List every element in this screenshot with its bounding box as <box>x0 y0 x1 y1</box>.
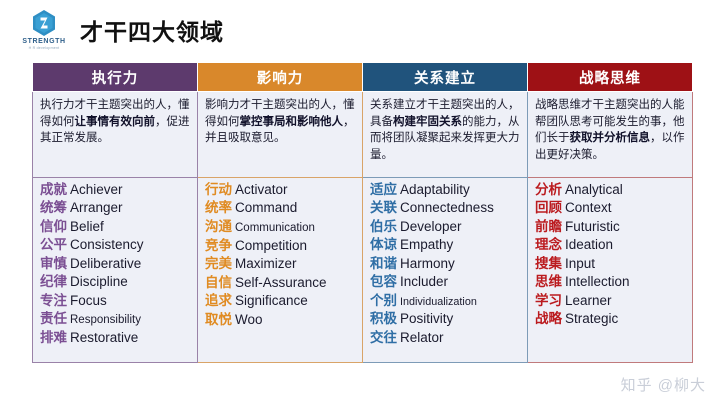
theme-name-cn: 公平 <box>40 237 67 252</box>
theme-name-en: Woo <box>235 312 263 327</box>
theme-name-en: Includer <box>400 274 448 289</box>
theme-name-en: Analytical <box>565 182 623 197</box>
theme-item: 前瞻Futuristic <box>535 218 686 236</box>
theme-name-cn: 战略 <box>535 311 562 326</box>
theme-name-cn: 专注 <box>40 293 67 308</box>
description-run-1: 构建牢固关系 <box>393 116 462 128</box>
talent-domains-table: 执行力 影响力 关系建立 战略思维 执行力才干主题突出的人，懂得如何让事情有效向… <box>32 62 693 363</box>
theme-name-cn: 行动 <box>205 182 232 197</box>
brand-logo: STRENGTH H R development <box>18 9 70 50</box>
theme-item: 伯乐Developer <box>370 218 521 236</box>
theme-item: 回顾Context <box>535 199 686 217</box>
theme-name-en: Discipline <box>70 274 128 289</box>
theme-item: 和谐Harmony <box>370 255 521 273</box>
theme-item: 个别Individualization <box>370 292 521 310</box>
theme-item: 追求Significance <box>205 292 356 310</box>
logo-tagline: H R development <box>29 47 60 51</box>
theme-name-cn: 前瞻 <box>535 219 562 234</box>
theme-name-cn: 沟通 <box>205 219 232 234</box>
theme-name-en: Connectedness <box>400 200 494 215</box>
theme-name-cn: 包容 <box>370 274 397 289</box>
theme-name-en: Responsibility <box>70 314 141 326</box>
logo-wordmark: STRENGTH <box>22 38 65 45</box>
themes-strategic: 分析Analytical回顾Context前瞻Futuristic理念Ideat… <box>528 178 693 363</box>
theme-name-cn: 交往 <box>370 330 397 345</box>
theme-name-cn: 自信 <box>205 275 232 290</box>
column-header-execution: 执行力 <box>33 63 198 92</box>
themes-execution: 成就Achiever统筹Arranger信仰Belief公平Consistenc… <box>33 178 198 363</box>
theme-name-cn: 纪律 <box>40 274 67 289</box>
theme-name-cn: 适应 <box>370 182 397 197</box>
theme-name-cn: 排难 <box>40 330 67 345</box>
description-execution: 执行力才干主题突出的人，懂得如何让事情有效向前，促进其正常发展。 <box>33 92 198 178</box>
themes-influencing: 行动Activator统率Command沟通Communication竞争Com… <box>198 178 363 363</box>
theme-name-cn: 统率 <box>205 200 232 215</box>
theme-name-en: Command <box>235 200 297 215</box>
theme-item: 分析Analytical <box>535 181 686 199</box>
theme-item: 成就Achiever <box>40 181 191 199</box>
theme-name-en: Strategic <box>565 311 618 326</box>
description-run-1: 获取并分析信息 <box>570 132 651 144</box>
theme-name-en: Significance <box>235 293 308 308</box>
slide-header: STRENGTH H R development 才干四大领域 <box>0 0 720 52</box>
theme-name-cn: 取悦 <box>205 312 232 327</box>
theme-name-en: Self-Assurance <box>235 275 327 290</box>
theme-item: 信仰Belief <box>40 218 191 236</box>
column-header-strategic: 战略思维 <box>528 63 693 92</box>
column-header-influencing: 影响力 <box>198 63 363 92</box>
theme-item: 思维Intellection <box>535 273 686 291</box>
table-themes-row: 成就Achiever统筹Arranger信仰Belief公平Consistenc… <box>33 178 693 363</box>
watermark: 知乎 @柳大 <box>621 374 706 395</box>
theme-item: 统率Command <box>205 199 356 217</box>
theme-name-cn: 学习 <box>535 293 562 308</box>
theme-name-cn: 搜集 <box>535 256 562 271</box>
theme-item: 统筹Arranger <box>40 199 191 217</box>
theme-name-cn: 伯乐 <box>370 219 397 234</box>
theme-name-cn: 和谐 <box>370 256 397 271</box>
theme-name-en: Input <box>565 256 595 271</box>
theme-name-cn: 竞争 <box>205 238 232 253</box>
theme-name-en: Competition <box>235 238 307 253</box>
themes-relationship: 适应Adaptability关联Connectedness伯乐Developer… <box>363 178 528 363</box>
theme-name-en: Belief <box>70 219 104 234</box>
description-influencing: 影响力才干主题突出的人，懂得如何掌控事局和影响他人，并且吸取意见。 <box>198 92 363 178</box>
theme-name-en: Deliberative <box>70 256 141 271</box>
theme-name-cn: 信仰 <box>40 219 67 234</box>
theme-name-en: Intellection <box>565 274 630 289</box>
theme-name-en: Developer <box>400 219 462 234</box>
theme-name-en: Communication <box>235 222 315 234</box>
column-header-relationship: 关系建立 <box>363 63 528 92</box>
theme-item: 竞争Competition <box>205 237 356 255</box>
theme-item: 包容Includer <box>370 273 521 291</box>
theme-item: 完美Maximizer <box>205 255 356 273</box>
theme-name-cn: 关联 <box>370 200 397 215</box>
description-run-1: 掌控事局和影响他人 <box>240 116 344 128</box>
description-run-1: 让事情有效向前 <box>75 116 156 128</box>
theme-name-cn: 回顾 <box>535 200 562 215</box>
theme-name-cn: 理念 <box>535 237 562 252</box>
theme-name-en: Consistency <box>70 237 144 252</box>
theme-item: 取悦Woo <box>205 311 356 329</box>
theme-item: 审慎Deliberative <box>40 255 191 273</box>
theme-name-cn: 个别 <box>370 293 397 308</box>
theme-name-cn: 积极 <box>370 311 397 326</box>
theme-name-en: Maximizer <box>235 256 297 271</box>
hexagon-logo-icon <box>31 9 57 37</box>
theme-name-en: Activator <box>235 182 288 197</box>
theme-item: 体谅Empathy <box>370 236 521 254</box>
theme-item: 交往Relator <box>370 329 521 347</box>
theme-item: 战略Strategic <box>535 310 686 328</box>
theme-name-en: Positivity <box>400 311 453 326</box>
theme-name-en: Achiever <box>70 182 123 197</box>
theme-item: 纪律Discipline <box>40 273 191 291</box>
theme-item: 关联Connectedness <box>370 199 521 217</box>
theme-name-en: Focus <box>70 293 107 308</box>
theme-item: 责任Responsibility <box>40 310 191 329</box>
theme-name-en: Individualization <box>400 296 477 308</box>
theme-name-en: Context <box>565 200 612 215</box>
theme-item: 适应Adaptability <box>370 181 521 199</box>
theme-item: 自信Self-Assurance <box>205 274 356 292</box>
theme-name-en: Relator <box>400 330 444 345</box>
theme-item: 沟通Communication <box>205 218 356 237</box>
theme-name-en: Restorative <box>70 330 138 345</box>
theme-name-cn: 思维 <box>535 274 562 289</box>
theme-name-cn: 审慎 <box>40 256 67 271</box>
theme-name-cn: 完美 <box>205 256 232 271</box>
theme-item: 搜集Input <box>535 255 686 273</box>
theme-item: 排难Restorative <box>40 329 191 347</box>
page-title: 才干四大领域 <box>80 21 224 44</box>
theme-name-cn: 分析 <box>535 182 562 197</box>
theme-name-en: Harmony <box>400 256 455 271</box>
theme-name-cn: 追求 <box>205 293 232 308</box>
theme-name-en: Adaptability <box>400 182 470 197</box>
theme-name-cn: 责任 <box>40 311 67 326</box>
theme-item: 积极Positivity <box>370 310 521 328</box>
theme-name-cn: 体谅 <box>370 237 397 252</box>
description-strategic: 战略思维才干主题突出的人能帮团队思考可能发生的事，他们长于获取并分析信息，以作出… <box>528 92 693 178</box>
theme-name-en: Empathy <box>400 237 453 252</box>
theme-name-cn: 成就 <box>40 182 67 197</box>
talent-domains-table-wrapper: 执行力 影响力 关系建立 战略思维 执行力才干主题突出的人，懂得如何让事情有效向… <box>32 62 692 363</box>
theme-item: 学习Learner <box>535 292 686 310</box>
theme-item: 公平Consistency <box>40 236 191 254</box>
theme-name-en: Learner <box>565 293 612 308</box>
theme-name-cn: 统筹 <box>40 200 67 215</box>
theme-item: 理念Ideation <box>535 236 686 254</box>
theme-name-en: Ideation <box>565 237 613 252</box>
theme-item: 行动Activator <box>205 181 356 199</box>
table-description-row: 执行力才干主题突出的人，懂得如何让事情有效向前，促进其正常发展。 影响力才干主题… <box>33 92 693 178</box>
table-header-row: 执行力 影响力 关系建立 战略思维 <box>33 63 693 92</box>
theme-name-en: Arranger <box>70 200 123 215</box>
theme-name-en: Futuristic <box>565 219 620 234</box>
theme-item: 专注Focus <box>40 292 191 310</box>
description-relationship: 关系建立才干主题突出的人，具备构建牢固关系的能力，从而将团队凝聚起来发挥更大力量… <box>363 92 528 178</box>
